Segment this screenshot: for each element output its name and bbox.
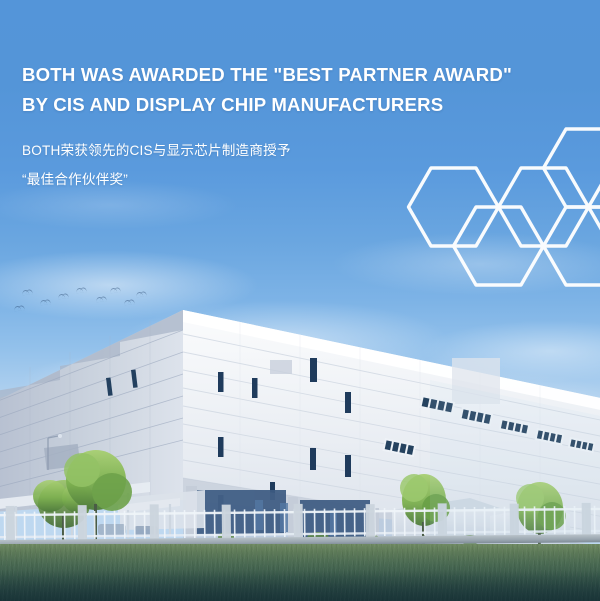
bird-icon (76, 288, 84, 294)
bird-icon (96, 297, 104, 303)
subheadline-line-1: BOTH荣获领先的CIS与显示芯片制造商授予 (22, 136, 291, 165)
bird-icon (124, 300, 132, 306)
bird-icon (22, 290, 30, 296)
bird-icon (40, 300, 48, 306)
promo-banner: BOTH WAS AWARDED THE "BEST PARTNER AWARD… (0, 0, 600, 601)
bird-icon (58, 294, 66, 300)
bird-icon (110, 288, 118, 294)
bird-icon (14, 306, 22, 312)
subheadline-line-2: “最佳合作伙伴奖” (22, 165, 291, 194)
headline-line-1: BOTH WAS AWARDED THE "BEST PARTNER AWARD… (22, 64, 512, 85)
bird-icon (136, 292, 144, 298)
headline-line-2: BY CIS AND DISPLAY CHIP MANUFACTURERS (22, 90, 562, 120)
grass-shadow (0, 570, 600, 601)
headline: BOTH WAS AWARDED THE "BEST PARTNER AWARD… (22, 60, 562, 120)
subheadline: BOTH荣获领先的CIS与显示芯片制造商授予 “最佳合作伙伴奖” (22, 136, 291, 194)
